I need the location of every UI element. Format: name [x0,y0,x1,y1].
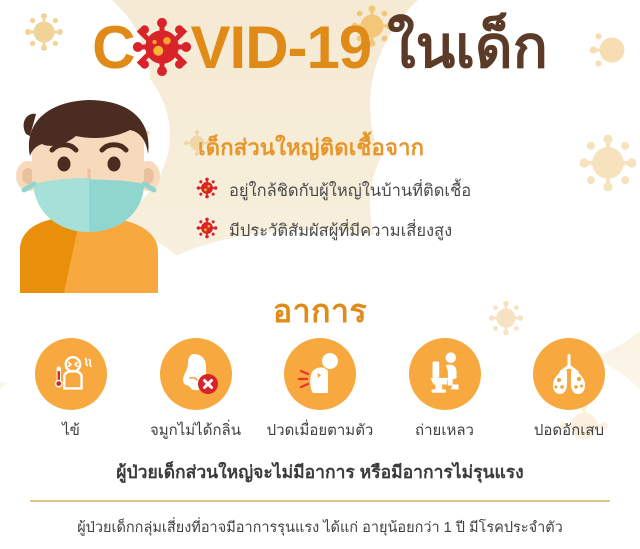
list-item: มีประวัติสัมผัสผู้ที่มีความเสี่ยงสูง [196,217,626,244]
nose-no-smell-icon [171,349,221,399]
poster-title: C VID- [0,14,640,81]
symptom-label: ปอดอักเสบ [510,418,628,442]
infographic-poster: C VID- [0,0,640,549]
symptom-icon-circle [35,338,107,410]
virus-bullet-icon [196,177,218,204]
symptom-icon-circle [409,338,481,410]
symptom-icon-circle [284,338,356,410]
title-letter-c: C [92,18,134,78]
fever-thermometer-icon [47,350,95,398]
symptoms-list: ไข้ จมูกไม่ได้กลิ่น [12,338,628,442]
boy-with-mask-illustration [2,98,177,293]
transmission-heading: เด็กส่วนใหญ่ติดเชื้อจาก [198,130,626,165]
symptom-label: ปวดเมื่อยตามตัว [261,418,379,442]
virus-bullet-icon [196,217,218,244]
symptom-icon-circle [533,338,605,410]
title-covid-text: VID-19 [191,18,372,78]
lungs-pneumonia-icon [544,349,594,399]
list-item-label: อยู่ใกล้ชิดกับผู้ใหญ่ในบ้านที่ติดเชื้อ [229,178,471,204]
list-item-label: มีประวัติสัมผัสผู้ที่มีความเสี่ยงสูง [229,218,452,244]
symptom-label: จมูกไม่ได้กลิ่น [137,418,255,442]
primary-note: ผู้ป่วยเด็กส่วนใหญ่จะไม่มีอาการ หรือมีอา… [0,458,640,486]
list-item: อยู่ใกล้ชิดกับผู้ใหญ่ในบ้านที่ติดเชื้อ [196,177,626,204]
symptoms-heading: อาการ [0,286,640,337]
symptom-icon-circle [160,338,232,410]
symptom-label: ถ่ายเหลว [386,418,504,442]
title-thai-text: ในเด็ก [387,19,548,77]
virus-icon [131,16,193,83]
transmission-section: เด็กส่วนใหญ่ติดเชื้อจาก [196,130,626,257]
secondary-note: ผู้ป่วยเด็กกลุ่มเสี่ยงที่อาจมีอาการรุนแร… [0,516,640,539]
diarrhea-toilet-icon [421,350,469,398]
symptom-item-diarrhea: ถ่ายเหลว [386,338,504,442]
body-ache-icon [295,349,345,399]
symptom-item-pneumonia: ปอดอักเสบ [510,338,628,442]
symptom-label: ไข้ [12,418,130,442]
symptom-item-no-smell: จมูกไม่ได้กลิ่น [137,338,255,442]
symptom-item-fever: ไข้ [12,338,130,442]
symptom-item-body-ache: ปวดเมื่อยตามตัว [261,338,379,442]
divider [30,500,610,502]
